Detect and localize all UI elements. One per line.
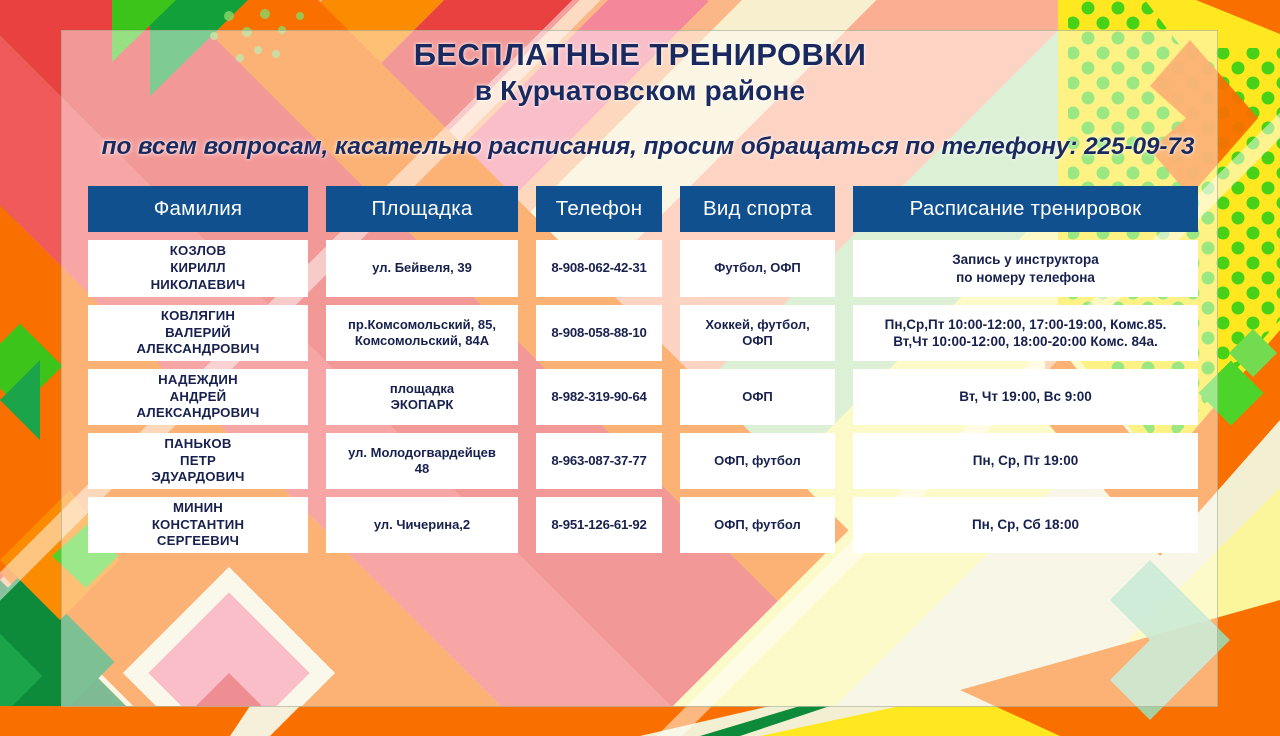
cell-surname: МИНИН КОНСТАНТИН СЕРГЕЕВИЧ xyxy=(88,497,308,553)
cell-schedule: Пн,Ср,Пт 10:00-12:00, 17:00-19:00, Комс.… xyxy=(853,305,1198,361)
column-header-phone: Телефон xyxy=(536,186,662,232)
cell-phone: 8-908-058-88-10 xyxy=(536,305,662,361)
column-header-sport: Вид спорта xyxy=(680,186,835,232)
table-row: ПАНЬКОВ ПЕТР ЭДУАРДОВИЧ ул. Молодогварде… xyxy=(88,433,1198,489)
table-row: КОЗЛОВ КИРИЛЛ НИКОЛАЕВИЧ ул. Бейвеля, 39… xyxy=(88,240,1198,297)
poster-title: БЕСПЛАТНЫЕ ТРЕНИРОВКИ в Курчатовском рай… xyxy=(0,38,1280,108)
cell-schedule: Пн, Ср, Пт 19:00 xyxy=(853,433,1198,489)
table-row: КОВЛЯГИН ВАЛЕРИЙ АЛЕКСАНДРОВИЧ пр.Комсом… xyxy=(88,305,1198,361)
cell-sport: Хоккей, футбол, ОФП xyxy=(680,305,835,361)
column-header-surname: Фамилия xyxy=(88,186,308,232)
column-header-venue: Площадка xyxy=(326,186,518,232)
cell-sport: ОФП xyxy=(680,369,835,425)
cell-phone: 8-951-126-61-92 xyxy=(536,497,662,553)
cell-schedule: Пн, Ср, Сб 18:00 xyxy=(853,497,1198,553)
cell-sport: ОФП, футбол xyxy=(680,497,835,553)
table-header-row: Фамилия Площадка Телефон Вид спорта Расп… xyxy=(88,186,1198,232)
cell-sport: Футбол, ОФП xyxy=(680,240,835,297)
table-row: МИНИН КОНСТАНТИН СЕРГЕЕВИЧ ул. Чичерина,… xyxy=(88,497,1198,553)
cell-venue: ул. Молодогвардейцев 48 xyxy=(326,433,518,489)
cell-phone: 8-982-319-90-64 xyxy=(536,369,662,425)
column-header-schedule: Расписание тренировок xyxy=(853,186,1198,232)
cell-venue: ул. Бейвеля, 39 xyxy=(326,240,518,297)
cell-surname: КОЗЛОВ КИРИЛЛ НИКОЛАЕВИЧ xyxy=(88,240,308,297)
poster-root: БЕСПЛАТНЫЕ ТРЕНИРОВКИ в Курчатовском рай… xyxy=(0,0,1280,736)
cell-venue: пр.Комсомольский, 85, Комсомольский, 84А xyxy=(326,305,518,361)
contact-subtitle: по всем вопросам, касательно расписания,… xyxy=(65,133,1231,161)
cell-venue: площадка ЭКОПАРК xyxy=(326,369,518,425)
cell-surname: НАДЕЖДИН АНДРЕЙ АЛЕКСАНДРОВИЧ xyxy=(88,369,308,425)
table-row: НАДЕЖДИН АНДРЕЙ АЛЕКСАНДРОВИЧ площадка Э… xyxy=(88,369,1198,425)
cell-sport: ОФП, футбол xyxy=(680,433,835,489)
title-line-2: в Курчатовском районе xyxy=(0,73,1280,108)
cell-surname: ПАНЬКОВ ПЕТР ЭДУАРДОВИЧ xyxy=(88,433,308,489)
cell-venue: ул. Чичерина,2 xyxy=(326,497,518,553)
cell-schedule: Вт, Чт 19:00, Вс 9:00 xyxy=(853,369,1198,425)
cell-surname: КОВЛЯГИН ВАЛЕРИЙ АЛЕКСАНДРОВИЧ xyxy=(88,305,308,361)
cell-phone: 8-963-087-37-77 xyxy=(536,433,662,489)
title-line-1: БЕСПЛАТНЫЕ ТРЕНИРОВКИ xyxy=(0,38,1280,73)
cell-schedule: Запись у инструктора по номеру телефона xyxy=(853,240,1198,297)
cell-phone: 8-908-062-42-31 xyxy=(536,240,662,297)
trainings-table: Фамилия Площадка Телефон Вид спорта Расп… xyxy=(88,186,1198,553)
